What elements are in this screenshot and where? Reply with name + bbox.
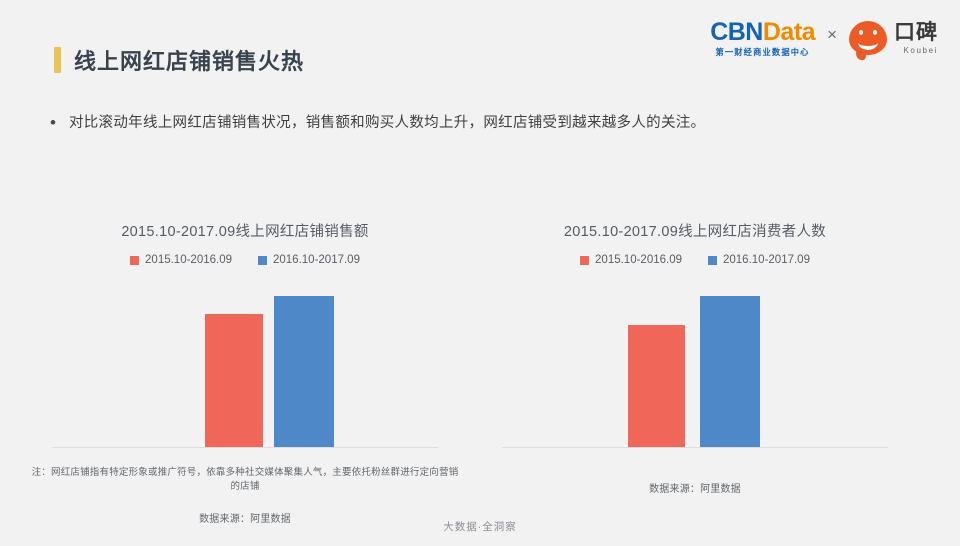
bullet-marker-icon: • xyxy=(50,113,56,133)
summary-bullet: • 对比滚动年线上网红店铺销售状况，销售额和购买人数均上升，网红店铺受到越来越多… xyxy=(50,113,705,134)
legend-item-series-1: 2015.10-2016.09 xyxy=(580,254,682,266)
chart-consumers-plot xyxy=(480,288,910,448)
chart-consumers-bar-series-1 xyxy=(628,325,685,447)
chart-consumers-title: 2015.10-2017.09线上网红店消费者人数 xyxy=(480,220,910,241)
chart-sales-bar-series-1 xyxy=(205,314,263,447)
chart-sales-legend: 2015.10-2016.09 2016.10-2017.09 xyxy=(30,254,460,266)
koubei-wordmark: 口碑 Koubei xyxy=(894,22,938,55)
chart-sales: 2015.10-2017.09线上网红店铺销售额 2015.10-2016.09… xyxy=(30,220,460,525)
chart-consumers: 2015.10-2017.09线上网红店消费者人数 2015.10-2016.0… xyxy=(480,220,910,495)
legend-item-series-1: 2015.10-2016.09 xyxy=(130,254,232,266)
koubei-wordmark-en: Koubei xyxy=(894,47,938,55)
cbndata-wordmark-cbn: CBN xyxy=(710,18,763,46)
chart-consumers-legend: 2015.10-2016.09 2016.10-2017.09 xyxy=(480,254,910,266)
legend-swatch-series-2 xyxy=(258,256,267,265)
cbndata-subtitle: 第一财经商业数据中心 xyxy=(716,48,810,57)
chart-consumers-source: 数据来源：阿里数据 xyxy=(480,480,910,495)
koubei-wordmark-cn: 口碑 xyxy=(894,22,938,43)
cbndata-wordmark-data: Data xyxy=(763,18,815,46)
logo-separator-x: × xyxy=(825,25,839,45)
legend-item-series-2: 2016.10-2017.09 xyxy=(708,254,810,266)
cbndata-logo: CBNData 第一财经商业数据中心 xyxy=(710,20,815,57)
chart-sales-plot xyxy=(30,288,460,448)
legend-label-series-1: 2015.10-2016.09 xyxy=(145,254,232,266)
page-title-text: 线上网红店铺销售火热 xyxy=(74,44,304,76)
chart-consumers-bar-series-2 xyxy=(700,296,760,447)
chart-consumers-baseline xyxy=(502,447,888,448)
legend-swatch-series-1 xyxy=(580,256,589,265)
page-title: 线上网红店铺销售火热 xyxy=(54,44,304,76)
slide-canvas: CBNData 第一财经商业数据中心 × 口碑 Koubei 线上网红店铺销售火… xyxy=(0,0,960,546)
slide-footer: 大数据·全洞察 xyxy=(0,519,960,534)
legend-label-series-2: 2016.10-2017.09 xyxy=(723,254,810,266)
legend-label-series-1: 2015.10-2016.09 xyxy=(595,254,682,266)
chart-sales-baseline xyxy=(52,447,438,448)
legend-label-series-2: 2016.10-2017.09 xyxy=(273,254,360,266)
smiley-mouth-icon xyxy=(858,35,878,50)
chart-sales-note: 注：网红店铺指有特定形象或推广符号，依靠多种社交媒体聚集人气，主要依托粉丝群进行… xyxy=(30,466,460,494)
cbndata-wordmark: CBNData xyxy=(710,20,815,45)
summary-bullet-text: 对比滚动年线上网红店铺销售状况，销售额和购买人数均上升，网红店铺受到越来越多人的… xyxy=(69,113,705,134)
legend-item-series-2: 2016.10-2017.09 xyxy=(258,254,360,266)
koubei-smiley-icon xyxy=(849,21,887,55)
brand-logo-block: CBNData 第一财经商业数据中心 × 口碑 Koubei xyxy=(710,16,938,60)
koubei-logo: 口碑 Koubei xyxy=(849,21,938,55)
chart-sales-bar-series-2 xyxy=(274,296,334,447)
title-accent-bar xyxy=(54,47,61,73)
chart-sales-title: 2015.10-2017.09线上网红店铺销售额 xyxy=(30,220,460,241)
legend-swatch-series-2 xyxy=(708,256,717,265)
legend-swatch-series-1 xyxy=(130,256,139,265)
